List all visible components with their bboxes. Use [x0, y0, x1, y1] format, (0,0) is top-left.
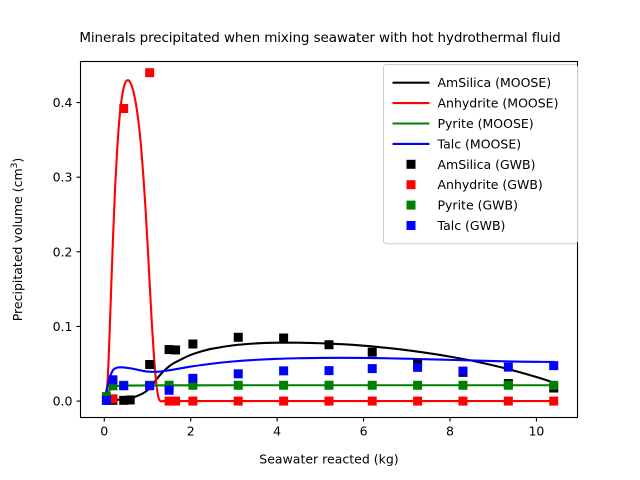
legend-label: Pyrite (MOOSE) — [438, 116, 534, 131]
legend-frame — [384, 65, 578, 244]
x-tick-label: 0 — [100, 424, 108, 439]
data-point-marker — [368, 397, 377, 406]
data-point-marker — [458, 367, 467, 376]
legend-marker-swatch — [407, 160, 416, 169]
data-point-marker — [234, 369, 243, 378]
x-tick-label: 2 — [187, 424, 195, 439]
legend-label: Talc (MOOSE) — [437, 136, 522, 151]
data-point-marker — [325, 340, 334, 349]
data-point-marker — [413, 363, 422, 372]
legend-label: Anhydrite (MOOSE) — [438, 96, 559, 111]
data-point-marker — [188, 339, 197, 348]
data-point-marker — [171, 397, 180, 406]
chart-legend[interactable]: AmSilica (MOOSE)Anhydrite (MOOSE)Pyrite … — [384, 65, 578, 244]
data-point-marker — [171, 345, 180, 354]
svg-text:Precipitated volume (cm3): Precipitated volume (cm3) — [10, 158, 25, 322]
legend-label: AmSilica (GWB) — [438, 157, 536, 172]
data-point-marker — [549, 397, 558, 406]
data-point-marker — [126, 395, 135, 404]
data-point-marker — [504, 381, 513, 390]
y-tick-label: 0.1 — [53, 319, 73, 334]
data-point-marker — [549, 361, 558, 370]
data-point-marker — [119, 104, 128, 113]
data-point-marker — [165, 386, 174, 395]
legend-marker-swatch — [407, 201, 416, 210]
legend-label: Anhydrite (GWB) — [438, 177, 543, 192]
data-point-marker — [102, 396, 111, 405]
data-point-marker — [234, 397, 243, 406]
plot-area: 02468100.00.10.20.30.4Seawater reacted (… — [0, 0, 640, 480]
x-axis-title: Seawater reacted (kg) — [259, 452, 398, 467]
data-point-marker — [458, 397, 467, 406]
legend-label: Talc (GWB) — [437, 218, 506, 233]
data-point-marker — [145, 68, 154, 77]
x-tick-label: 4 — [273, 424, 281, 439]
data-point-marker — [458, 381, 467, 390]
data-point-marker — [368, 348, 377, 357]
data-point-marker — [325, 381, 334, 390]
data-point-marker — [119, 381, 128, 390]
data-point-marker — [279, 381, 288, 390]
data-point-marker — [234, 381, 243, 390]
data-point-marker — [413, 381, 422, 390]
data-point-marker — [413, 397, 422, 406]
x-tick-label: 10 — [528, 424, 544, 439]
data-point-marker — [368, 381, 377, 390]
x-tick-label: 6 — [360, 424, 368, 439]
y-tick-label: 0.2 — [53, 244, 73, 259]
legend-label: AmSilica (MOOSE) — [438, 75, 552, 90]
y-tick-label: 0.0 — [53, 394, 73, 409]
y-axis-title: Precipitated volume (cm3) — [10, 158, 25, 322]
data-point-marker — [279, 366, 288, 375]
legend-marker-swatch — [407, 221, 416, 230]
legend-marker-swatch — [407, 180, 416, 189]
data-point-marker — [368, 364, 377, 373]
data-point-marker — [325, 366, 334, 375]
data-point-marker — [504, 363, 513, 372]
y-tick-label: 0.3 — [53, 170, 73, 185]
data-point-marker — [145, 360, 154, 369]
data-point-marker — [279, 334, 288, 343]
legend-label: Pyrite (GWB) — [438, 198, 519, 213]
data-point-marker — [549, 381, 558, 390]
data-point-marker — [108, 375, 117, 384]
data-point-marker — [279, 397, 288, 406]
x-tick-label: 8 — [446, 424, 454, 439]
y-tick-label: 0.4 — [53, 95, 73, 110]
data-point-marker — [504, 397, 513, 406]
data-point-marker — [188, 374, 197, 383]
data-point-marker — [325, 397, 334, 406]
figure-canvas: Minerals precipitated when mixing seawat… — [0, 0, 640, 480]
data-point-marker — [188, 397, 197, 406]
data-point-marker — [145, 381, 154, 390]
data-point-marker — [234, 333, 243, 342]
